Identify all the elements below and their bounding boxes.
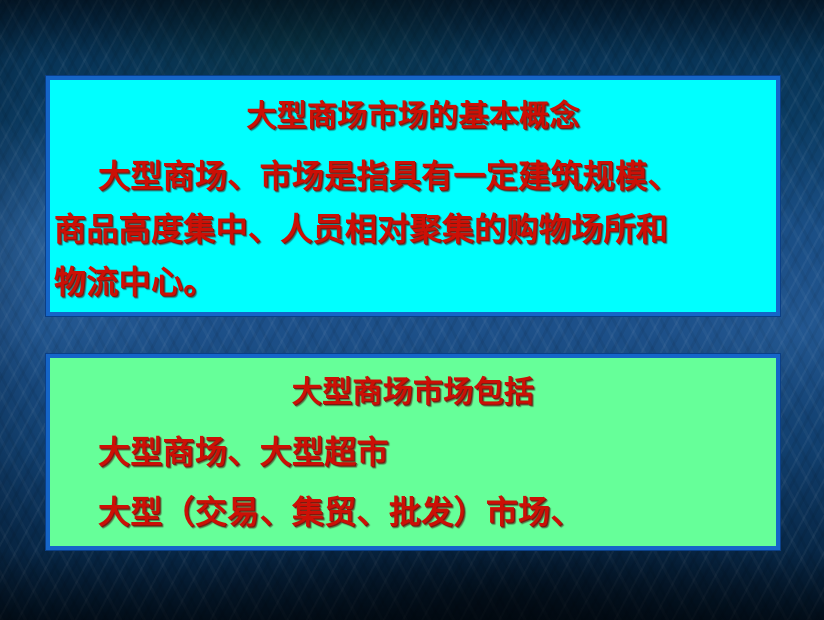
presentation-slide: 大型商场市场的基本概念 大型商场、市场是指具有一定建筑规模、 商品高度集中、人员… (0, 0, 824, 620)
concept-body-line-2: 商品高度集中、人员相对聚集的购物场所和 (54, 213, 668, 245)
concept-textbox[interactable]: 大型商场市场的基本概念 大型商场、市场是指具有一定建筑规模、 商品高度集中、人员… (46, 76, 780, 316)
includes-textbox[interactable]: 大型商场市场包括 大型商场、大型超市 大型（交易、集贸、批发）市场、 (46, 354, 780, 550)
includes-body-line-2: 大型（交易、集贸、批发）市场、 (98, 496, 583, 528)
concept-textbox-content: 大型商场市场的基本概念 大型商场、市场是指具有一定建筑规模、 商品高度集中、人员… (50, 80, 776, 312)
includes-body-line-1: 大型商场、大型超市 (98, 436, 389, 468)
includes-textbox-content: 大型商场市场包括 大型商场、大型超市 大型（交易、集贸、批发）市场、 (50, 358, 776, 546)
concept-body-line-3: 物流中心。 (54, 266, 216, 298)
includes-heading: 大型商场市场包括 (50, 378, 776, 408)
concept-heading: 大型商场市场的基本概念 (50, 102, 776, 132)
concept-body-line-1: 大型商场、市场是指具有一定建筑规模、 (98, 160, 680, 192)
